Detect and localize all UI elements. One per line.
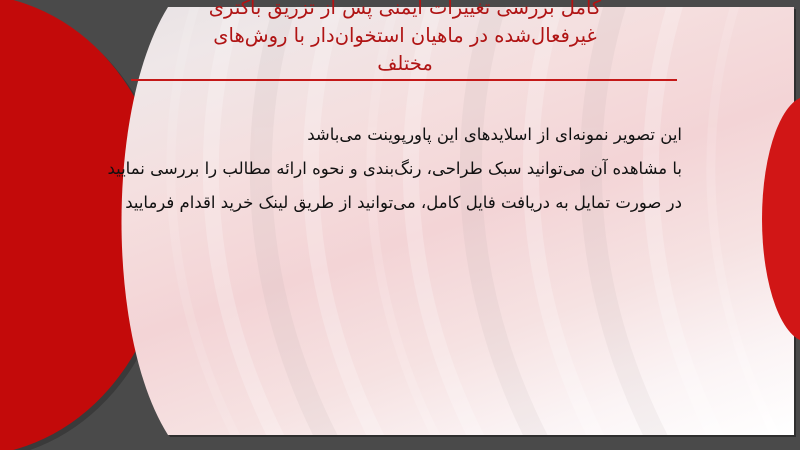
slide-title: کامل بررسی تغییرات ایمنی پس از تزریق باک… [120,0,690,78]
slide-body-line-2: با مشاهده آن می‌توانید سبک طراحی، رنگ‌بن… [112,152,682,186]
title-underline-rule [131,79,677,81]
slide-title-line-1: کامل بررسی تغییرات ایمنی پس از تزریق باک… [120,0,690,22]
slide-title-line-3: مختلف [120,50,690,78]
presentation-slide: کامل بررسی تغییرات ایمنی پس از تزریق باک… [0,0,800,450]
slide-body-text: این تصویر نمونه‌ای از اسلایدهای این پاور… [112,118,682,220]
slide-body-line-1: این تصویر نمونه‌ای از اسلایدهای این پاور… [112,118,682,152]
slide-body-line-3: در صورت تمایل به دریافت فایل کامل، می‌تو… [112,186,682,220]
slide-title-line-2: غیرفعال‌شده در ماهیان استخوان‌دار با روش… [120,22,690,50]
